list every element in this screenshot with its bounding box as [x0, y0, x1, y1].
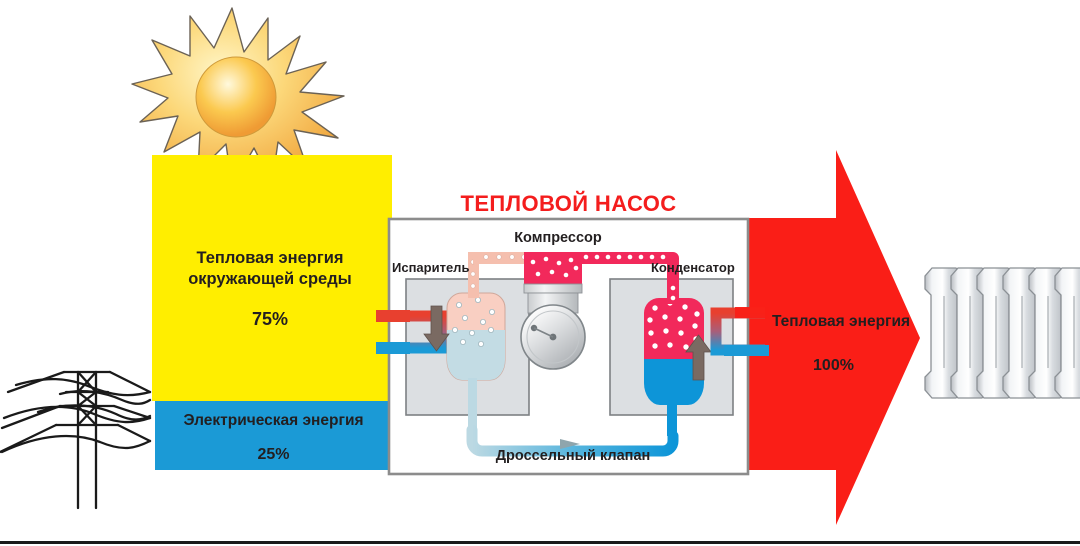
output-energy-label: Тепловая энергия: [746, 313, 936, 331]
output-energy-percent: 100%: [746, 357, 921, 376]
bottom-rule: [0, 541, 1080, 544]
compressor-unit: [521, 252, 585, 369]
throttle-valve-label: Дроссельный клапан: [448, 448, 698, 465]
electric-energy-percent: 25%: [155, 446, 392, 465]
ambient-energy-label-line1: Тепловая энергия: [155, 249, 385, 268]
condenser-label: Конденсатор: [651, 260, 771, 275]
evaporator-label: Испаритель: [392, 260, 504, 275]
compressor-label: Компрессор: [483, 230, 633, 247]
heat-pump-diagram: ТЕПЛОВОЙ НАСОС Тепловая энергия окружающ…: [0, 0, 1080, 546]
output-energy-arrow: [742, 150, 920, 525]
radiator-icon: [925, 268, 1080, 398]
page-title: ТЕПЛОВОЙ НАСОС: [389, 191, 748, 217]
ambient-energy-label-line2: окружающей среды: [155, 270, 385, 289]
power-pylon-icon: [0, 372, 150, 508]
electric-energy-label: Электрическая энергия: [155, 412, 392, 430]
ambient-energy-percent: 75%: [155, 309, 385, 330]
